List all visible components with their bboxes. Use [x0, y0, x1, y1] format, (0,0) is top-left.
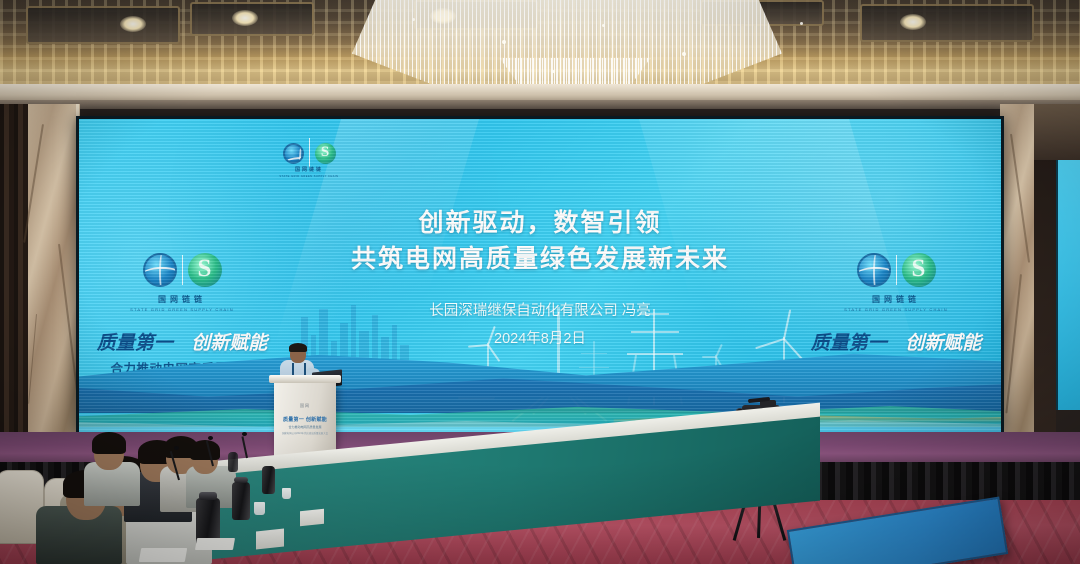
right-wall-upper [1034, 104, 1080, 160]
name-tent-card [256, 529, 284, 550]
left-marble-pillar [28, 104, 80, 446]
center-logo-cn: 国网链链 [277, 166, 341, 173]
left-curtain [0, 104, 30, 444]
thermos-flask [228, 452, 238, 472]
microphone-head-icon [174, 446, 179, 450]
state-grid-globe-icon [143, 253, 177, 287]
microphone-head-icon [242, 432, 247, 436]
podium-sign: 国网 质量第一 创新赋能 合力推动电网高质量发展 国家电网公司2024年供应商高… [282, 403, 328, 435]
ceiling-downlight [900, 14, 926, 30]
podium-sign-logo: 国网 [282, 403, 328, 409]
podium-sign-line2: 合力推动电网高质量发展 [282, 425, 328, 429]
green-supply-chain-icon [188, 253, 222, 287]
thermos-cap [199, 492, 217, 500]
soffit-lip [0, 100, 1080, 109]
led-screen: 国网链链 STATE GRID GREEN SUPPLY CHAIN 创新驱动，… [79, 119, 1001, 433]
ceiling-downlight [232, 10, 258, 26]
speaker-lanyard [292, 363, 306, 375]
conference-photo: 国网链链 STATE GRID GREEN SUPPLY CHAIN 创新驱动，… [0, 0, 1080, 564]
ceiling [0, 0, 1080, 96]
screen-title-line1: 创新驱动，数智引领 [79, 203, 1001, 239]
water-cup [254, 502, 265, 515]
green-supply-chain-icon [902, 253, 936, 287]
document-paper [139, 548, 187, 562]
screen-illustration [79, 283, 1001, 433]
thermos-cap [234, 477, 248, 483]
center-logo-en: STATE GRID GREEN SUPPLY CHAIN [277, 175, 341, 178]
green-supply-chain-icon [315, 143, 336, 164]
screen-center-logo: 国网链链 STATE GRID GREEN SUPPLY CHAIN [277, 141, 341, 178]
document-paper [195, 538, 235, 550]
state-grid-globe-icon [857, 253, 891, 287]
secondary-screen-edge [1056, 160, 1080, 410]
podium-top-surface [269, 375, 341, 383]
name-tent-card [300, 509, 324, 527]
thermos-flask [262, 466, 275, 494]
microphone-head-icon [208, 436, 213, 440]
water-cup [282, 488, 291, 499]
podium-sign-line1: 质量第一 创新赋能 [282, 416, 328, 423]
thermos-flask [232, 482, 250, 520]
state-grid-globe-icon [283, 143, 304, 164]
speaker-hair [289, 343, 307, 352]
podium-sign-line3: 国家电网公司2024年供应商高质量发展大会 [282, 431, 328, 435]
ceiling-downlight [120, 16, 146, 32]
right-marble-pillar [1000, 104, 1034, 446]
